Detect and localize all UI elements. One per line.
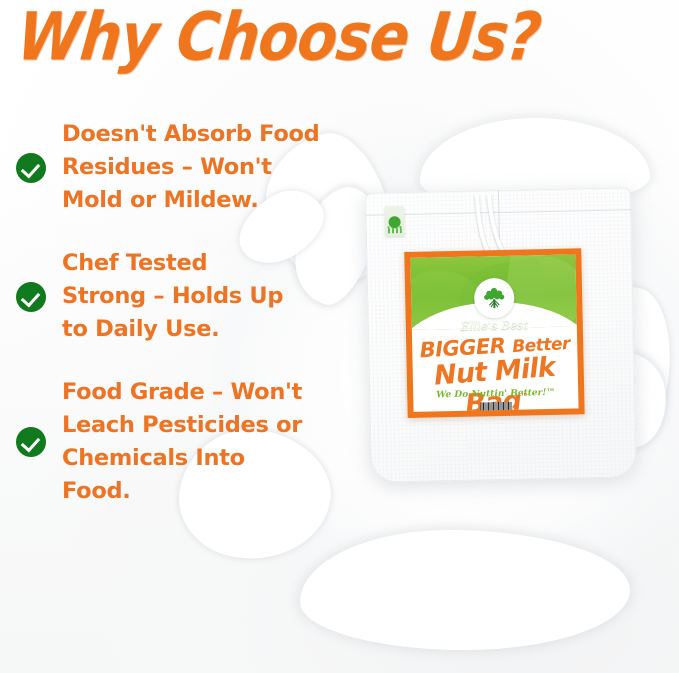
tree-logo-icon <box>473 278 514 319</box>
benefit-line: Mold or Mildew. <box>62 184 319 217</box>
benefit-text: Chef Tested Strong – Holds Up to Daily U… <box>62 247 283 346</box>
benefit-line: Doesn't Absorb Food <box>62 118 319 151</box>
list-item: Food Grade – Won't Leach Pesticides or C… <box>0 376 340 508</box>
product-benefits-graphic: Why Choose Us? Doesn't Absorb Food Resid… <box>0 0 679 673</box>
label-inner: Ellie's Best BIGGER Better Nut Milk Bag™… <box>410 254 578 411</box>
benefit-line: Residues – Won't <box>62 151 319 184</box>
tree-logo-svg <box>479 284 508 313</box>
benefit-line: Food Grade – Won't <box>62 376 302 409</box>
check-icon-wrap <box>0 282 62 312</box>
benefit-line: Strong – Holds Up <box>62 280 283 313</box>
check-icon-wrap <box>0 153 62 183</box>
benefit-line: Chef Tested <box>62 247 283 280</box>
product-label: Ellie's Best BIGGER Better Nut Milk Bag™… <box>404 248 584 418</box>
check-circle-icon <box>16 153 46 183</box>
list-item: Doesn't Absorb Food Residues – Won't Mol… <box>0 118 340 217</box>
check-circle-icon <box>16 427 46 457</box>
benefit-line: Food. <box>62 475 302 508</box>
barcode-icon <box>480 402 512 412</box>
benefit-line: Leach Pesticides or <box>62 409 302 442</box>
benefit-line: Chemicals Into <box>62 442 302 475</box>
benefit-line: to Daily Use. <box>62 313 283 346</box>
check-icon-wrap <box>0 427 62 457</box>
check-circle-icon <box>16 282 46 312</box>
product-bag: Ellie's Best BIGGER Better Nut Milk Bag™… <box>365 187 637 483</box>
benefit-text: Doesn't Absorb Food Residues – Won't Mol… <box>62 118 319 217</box>
page-title: Why Choose Us? <box>14 0 544 76</box>
list-item: Chef Tested Strong – Holds Up to Daily U… <box>0 247 340 346</box>
benefits-list: Doesn't Absorb Food Residues – Won't Mol… <box>0 118 340 538</box>
benefit-text: Food Grade – Won't Leach Pesticides or C… <box>62 376 302 508</box>
milk-splash-bottom <box>300 530 630 650</box>
